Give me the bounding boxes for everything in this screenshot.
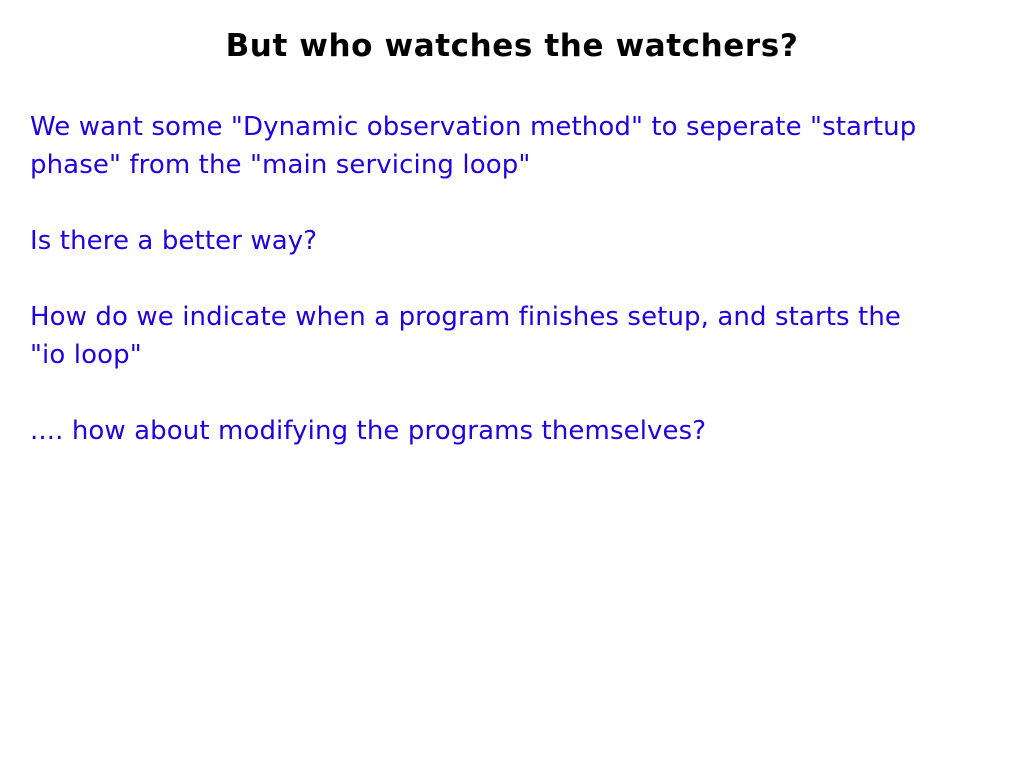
body-paragraph-4: .... how about modifying the programs th… bbox=[30, 412, 936, 450]
body-paragraph-2: Is there a better way? bbox=[30, 222, 936, 260]
slide-body-text: We want some "Dynamic observation method… bbox=[30, 108, 936, 450]
body-paragraph-1: We want some "Dynamic observation method… bbox=[30, 108, 936, 184]
body-paragraph-3: How do we indicate when a program finish… bbox=[30, 298, 936, 374]
page-title: But who watches the watchers? bbox=[0, 26, 1024, 66]
slide-canvas: But who watches the watchers? We want so… bbox=[0, 0, 1024, 768]
